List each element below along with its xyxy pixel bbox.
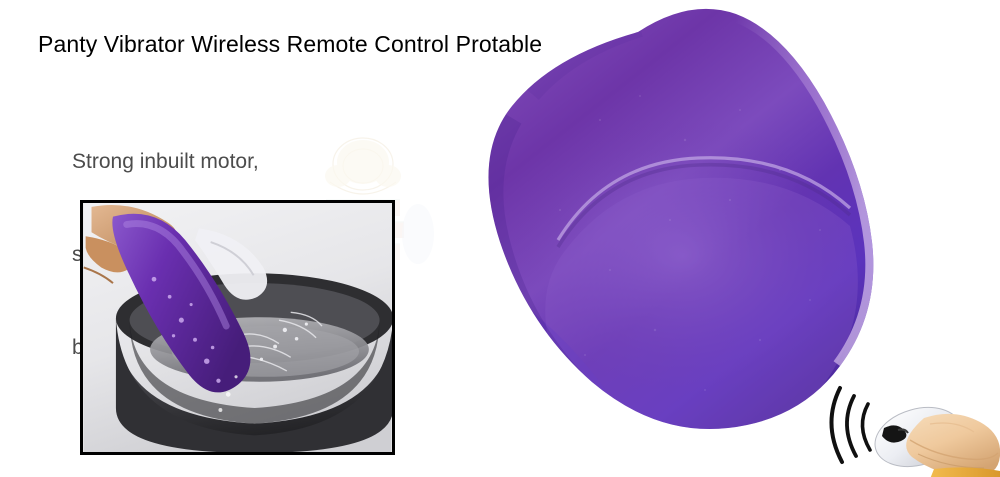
wireless-remote-illustration (826, 374, 1000, 477)
marketing-image-canvas: Panty Vibrator Wireless Remote Control P… (0, 0, 1000, 477)
page-title: Panty Vibrator Wireless Remote Control P… (38, 31, 542, 57)
hand (906, 414, 1000, 477)
wireless-signal-icon (831, 388, 870, 462)
waterproof-demo-photo (80, 200, 395, 455)
description-line-1: Strong inbuilt motor, (72, 146, 352, 177)
